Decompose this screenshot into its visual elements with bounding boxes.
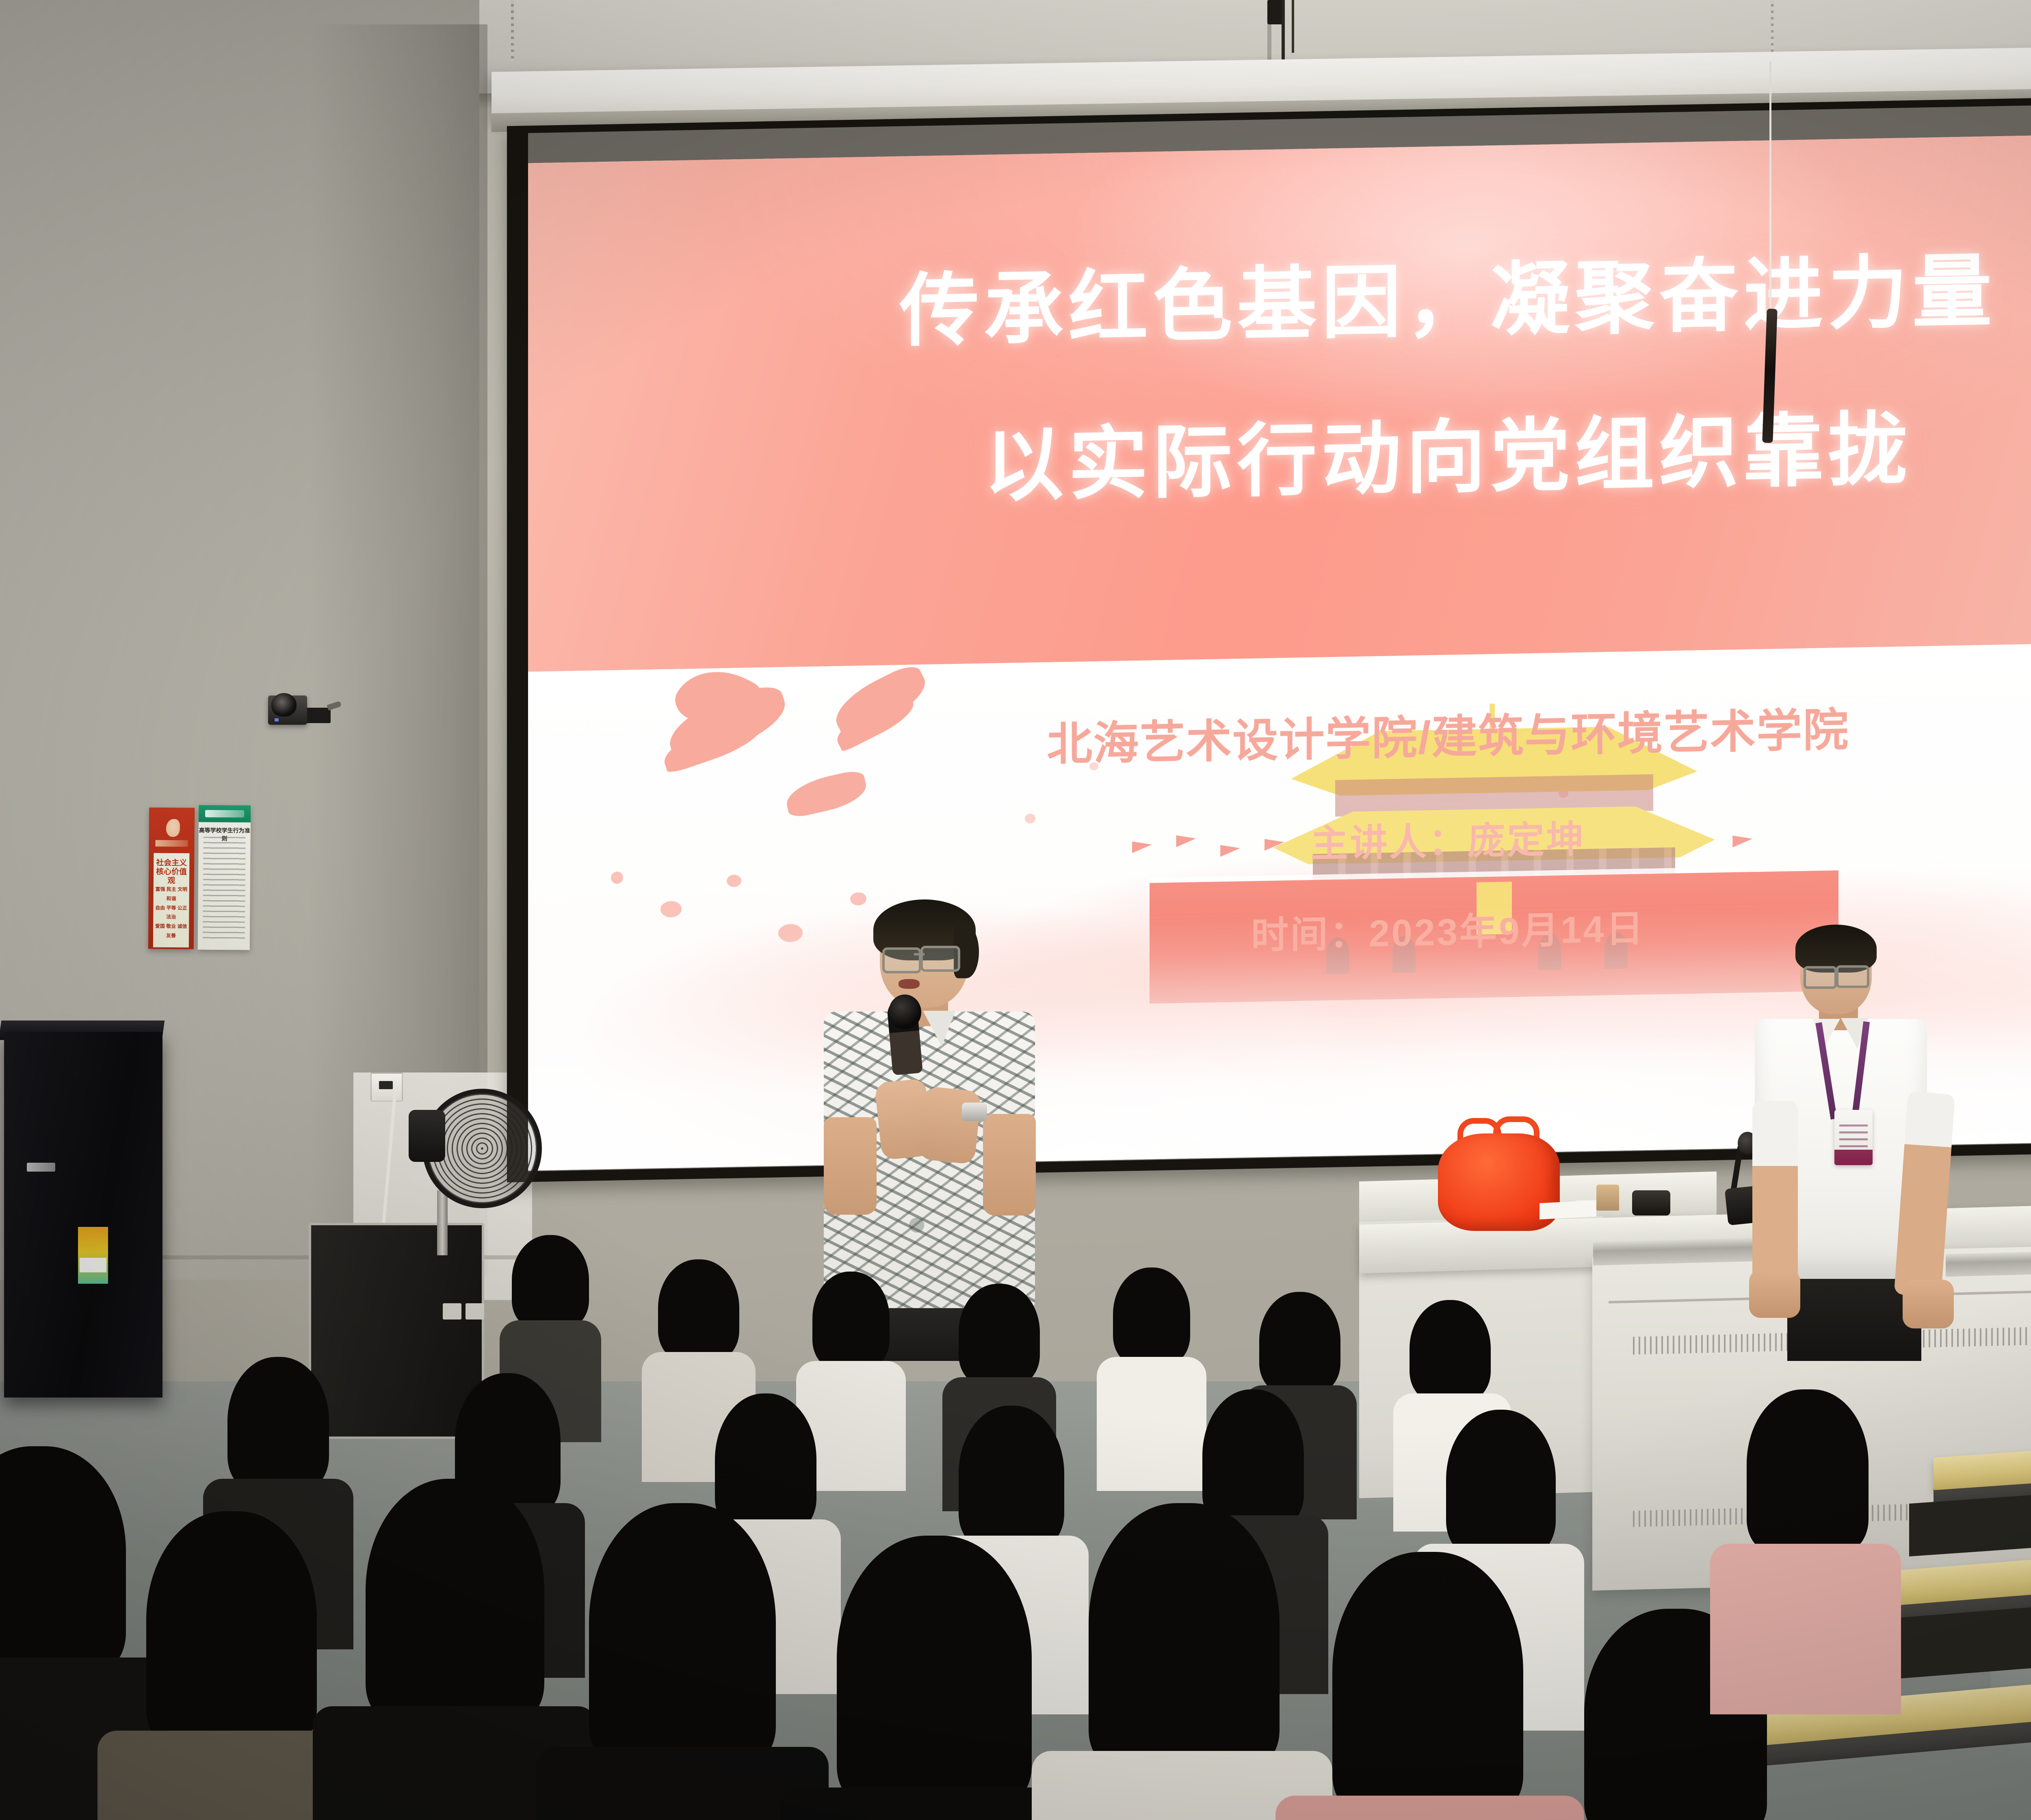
student-hair <box>1259 1292 1340 1393</box>
presenter-hand-right <box>918 1086 982 1165</box>
student-hair <box>715 1393 816 1532</box>
student-hair <box>146 1511 317 1747</box>
man2-hand-left <box>1749 1270 1800 1318</box>
camera-lens-icon <box>271 693 297 717</box>
student-hair <box>1410 1300 1491 1402</box>
eyeglasses-icon <box>1804 966 1837 989</box>
camera-mount-arm <box>304 708 331 723</box>
student-hair <box>812 1272 890 1369</box>
poster-red-title: 社会主义核心价值观 <box>154 859 189 886</box>
case-latch[interactable] <box>443 1303 461 1319</box>
socket-slot <box>379 1081 393 1089</box>
id-badge-text <box>1839 1124 1868 1149</box>
student-hair <box>1332 1552 1523 1812</box>
eyeglasses-icon <box>882 947 921 973</box>
eyeglasses-icon-right <box>920 946 960 972</box>
presenter-mouth <box>899 979 920 989</box>
wall-power-socket[interactable] <box>370 1072 403 1102</box>
student-hair <box>837 1536 1032 1804</box>
asset-tag-barcode <box>80 1258 106 1272</box>
screen-pull-cord[interactable] <box>1769 61 1771 321</box>
man2-left-arm <box>1752 1101 1798 1292</box>
desk-object-black[interactable] <box>1632 1190 1670 1215</box>
poster-subtitle-bar <box>156 840 188 847</box>
student-body <box>1710 1544 1901 1714</box>
desk-object-tan[interactable] <box>1596 1185 1619 1211</box>
student-body <box>1275 1796 1584 1820</box>
lecture-hall-photo: 传承红色基因，凝聚奋进力量 以实际行动向党组织靠拢 <box>0 0 2031 1820</box>
student-body <box>1097 1357 1206 1491</box>
screen-hanging-chain-left <box>511 0 514 62</box>
ceiling-cable <box>1282 0 1285 65</box>
fan-motor-housing <box>409 1110 445 1162</box>
student-hair <box>959 1406 1064 1548</box>
ceiling-cable-2 <box>1292 0 1294 53</box>
man2-hand-right <box>1903 1280 1954 1328</box>
student-hair <box>227 1357 329 1491</box>
school-logo-icon <box>205 810 244 818</box>
equipment-flight-case <box>309 1223 484 1439</box>
speaker-logo-icon <box>27 1163 55 1172</box>
poster-core-socialist-values: 社会主义核心价值观 富强 民主 文明 和谐自由 平等 公正 法治爱国 敬业 诚信… <box>148 808 195 949</box>
student-hair <box>1202 1389 1304 1527</box>
student-hair <box>589 1503 776 1763</box>
emblem-icon <box>166 819 180 837</box>
speaker-cabinet-left <box>4 1032 162 1397</box>
eyeglasses-bridge <box>914 953 925 955</box>
fan-post <box>437 1190 448 1255</box>
camera-status-led <box>275 718 279 721</box>
student-hair <box>1747 1389 1869 1552</box>
student-hair <box>366 1479 544 1722</box>
student-hair <box>1113 1267 1190 1365</box>
poster-green-bodytext <box>203 837 246 942</box>
presenter-left-arm <box>824 1117 877 1215</box>
student-hair <box>512 1235 589 1328</box>
student-hair <box>658 1259 739 1361</box>
desk-papers[interactable] <box>1539 1200 1596 1219</box>
projected-slide: 传承红色基因，凝聚奋进力量 以实际行动向党组织靠拢 <box>528 129 2031 1170</box>
poster-student-code-of-conduct: 高等学校学生行为准则 <box>198 805 251 950</box>
student-hair <box>1446 1410 1556 1556</box>
wristwatch-icon <box>962 1103 987 1121</box>
student-hair <box>959 1284 1040 1385</box>
eyeglasses-icon-right <box>1836 965 1869 988</box>
asset-tag-label <box>78 1227 108 1284</box>
case-latch[interactable] <box>466 1303 484 1319</box>
poster-red-values: 富强 民主 文明 和谐自由 平等 公正 法治爱国 敬业 诚信 友善 <box>155 885 188 940</box>
poster-card: 社会主义核心价值观 富强 民主 文明 和谐自由 平等 公正 法治爱国 敬业 诚信… <box>153 853 190 948</box>
presenter-right-arm <box>983 1114 1036 1215</box>
poster-green-header <box>199 805 251 823</box>
student-hair <box>1089 1503 1280 1767</box>
